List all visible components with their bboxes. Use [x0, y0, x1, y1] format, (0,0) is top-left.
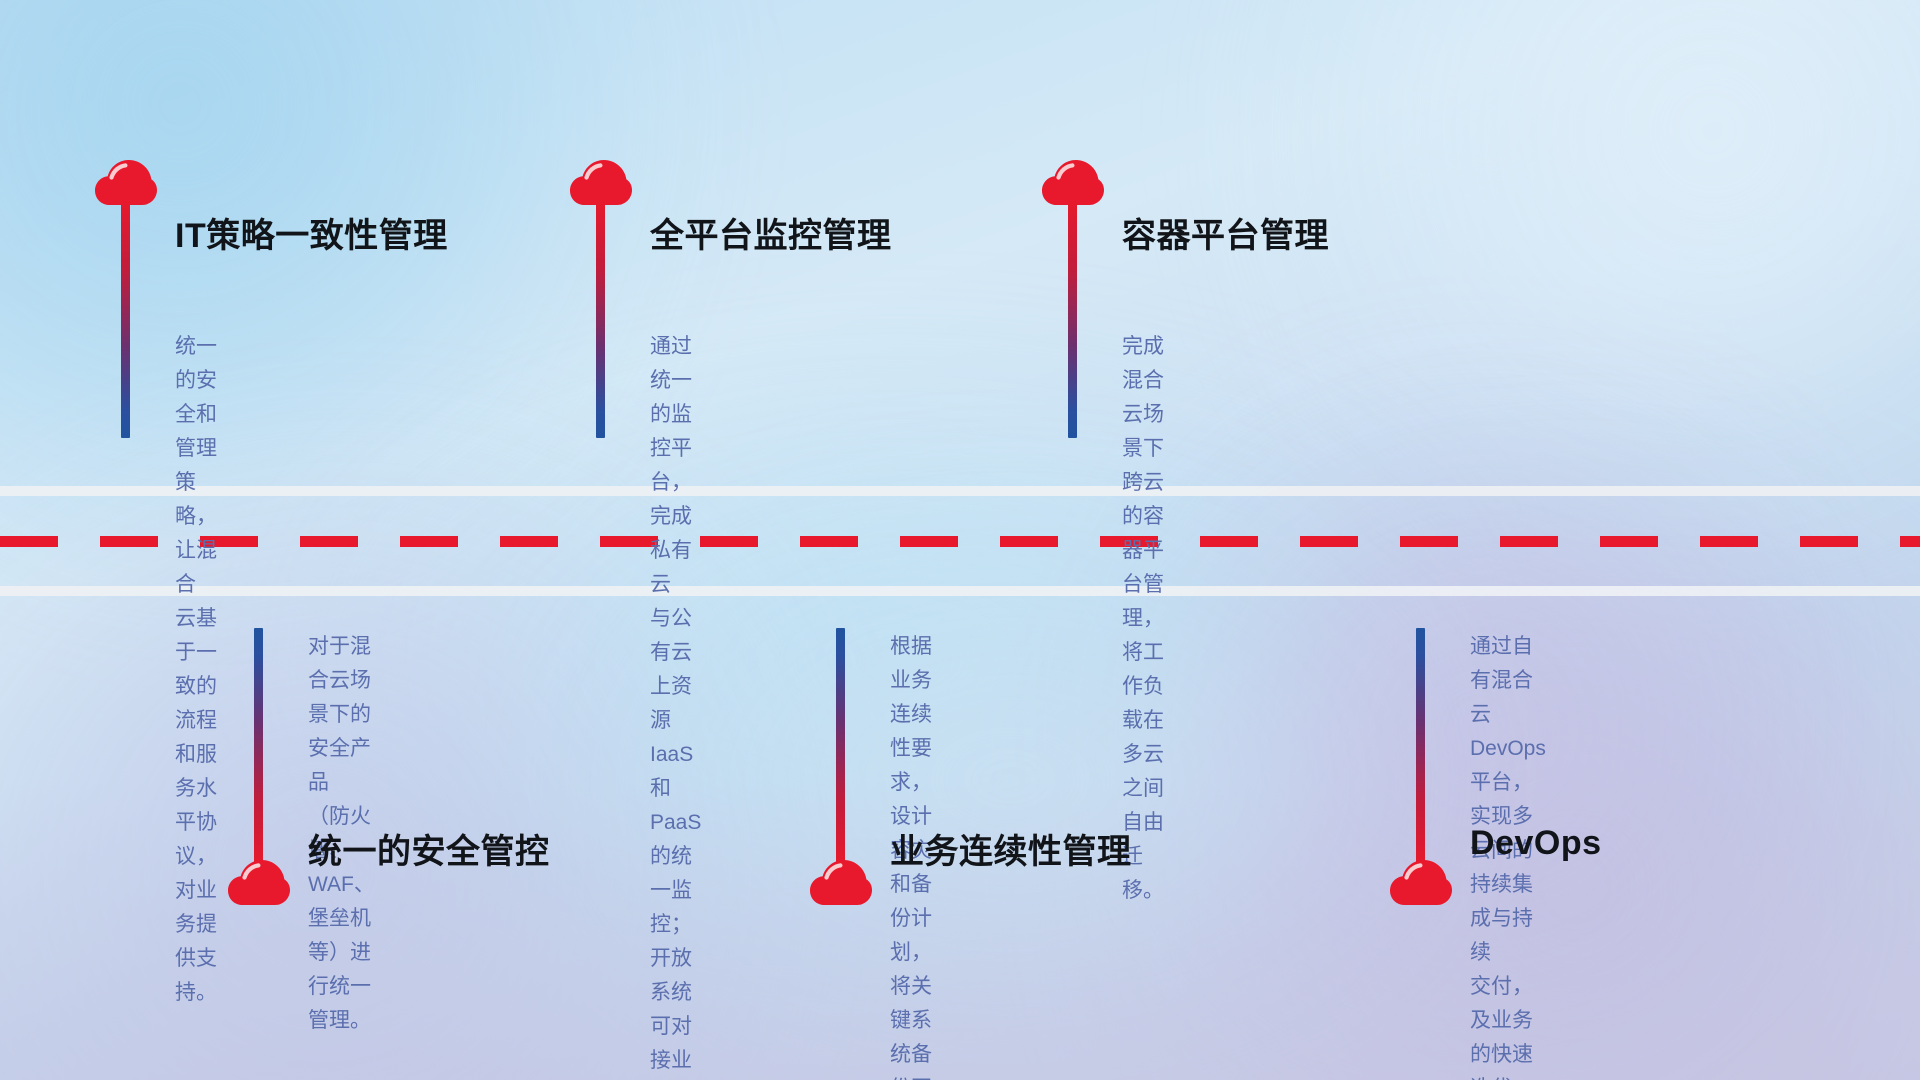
- panel-title: DevOps: [1470, 824, 1602, 863]
- cloud-icon: [810, 860, 872, 906]
- panel-title: IT策略一致性管理: [175, 208, 448, 257]
- road-edge-bottom: [0, 586, 1920, 596]
- road-edge-top: [0, 486, 1920, 496]
- cloud-icon: [1390, 860, 1452, 906]
- panel-title: 容器平台管理: [1122, 208, 1329, 257]
- panel-title: 统一的安全管控: [308, 824, 550, 873]
- stem-line: [836, 628, 845, 866]
- panel-description: 完成混合云场景下跨云的容器平 台管理，将工作负载在多云之间 自由迁移。: [1122, 330, 1164, 908]
- stem-line: [121, 200, 130, 438]
- stem-line: [254, 628, 263, 866]
- stem-line: [1416, 628, 1425, 866]
- infographic-canvas: IT策略一致性管理 统一的安全和管理策略，让混合 云基于一致的流程和服务水平协 …: [0, 0, 1920, 1080]
- panel-description: 通过统一的监控平台，完成私有云 与公有云上资源IaaS和PaaS的统 一监控；开…: [650, 330, 701, 1080]
- panel-description: 统一的安全和管理策略，让混合 云基于一致的流程和服务水平协 议，对业务提供支持。: [175, 330, 217, 1010]
- stem-line: [596, 200, 605, 438]
- panel-title: 业务连续性管理: [890, 824, 1132, 873]
- stem-line: [1068, 200, 1077, 438]
- road-divider: [0, 486, 1920, 596]
- road-center-dashes: [0, 536, 1920, 547]
- cloud-icon: [228, 860, 290, 906]
- panel-title: 全平台监控管理: [650, 208, 892, 257]
